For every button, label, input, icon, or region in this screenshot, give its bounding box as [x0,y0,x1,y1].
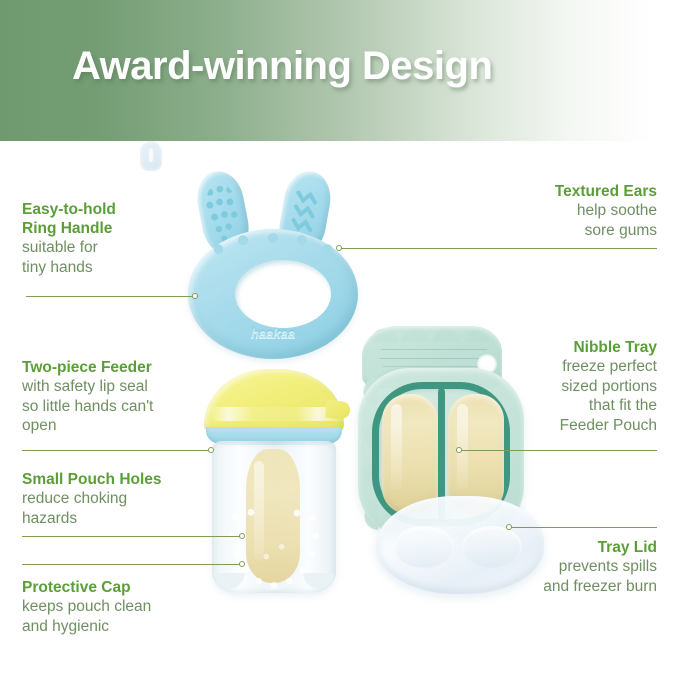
leader-line-safety-lip-seal [22,450,210,451]
callout-nibble-tray: Nibble Tray freeze perfect sized portion… [560,338,657,435]
callout-body-line: Feeder Pouch [560,416,657,436]
leader-endpoint-dot [456,447,462,453]
leader-endpoint-dot [239,533,245,539]
leader-line-tray-lid [510,527,657,528]
callout-small-pouch-holes: Small Pouch Holes reduce choking hazards [22,470,162,528]
callout-body-line: open [22,416,153,436]
tray-lid-dome [462,526,522,568]
callout-tray-lid: Tray Lid prevents spills and freezer bur… [543,538,657,596]
callout-body-line: with safety lip seal [22,377,153,397]
tray-lid-tab-slot [148,147,154,163]
header-banner: Award-winning Design [0,0,679,141]
callout-title: Small Pouch Holes [22,470,162,489]
callout-textured-ears: Textured Ears help soothe sore gums [555,182,657,240]
leader-endpoint-dot [506,524,512,530]
callout-body-line: tiny hands [22,258,116,278]
leader-line-nibble-tray [460,450,657,451]
callout-body-line: and freezer burn [543,577,657,597]
feeder-yellow-lid [204,369,344,435]
callout-ring-handle: Easy-to-hold Ring Handle suitable for ti… [22,200,116,277]
callout-body-line: sized portions [560,377,657,397]
callout-title: Easy-to-hold [22,200,116,219]
page-title: Award-winning Design [72,44,492,89]
tray-lid-dome [394,526,454,568]
callout-title: Textured Ears [555,182,657,201]
callout-body-line: and hygienic [22,617,151,637]
callout-body-line: suitable for [22,238,116,258]
callout-body-line: prevents spills [543,557,657,577]
callout-title-line2: Ring Handle [22,219,116,238]
callout-title: Two-piece Feeder [22,358,153,377]
tray-lid [376,496,544,594]
callout-body-line: help soothe [555,201,657,221]
callout-body-line: freeze perfect [560,357,657,377]
leader-endpoint-dot [192,293,198,299]
callout-body-line: that fit the [560,396,657,416]
callout-body-line: keeps pouch clean [22,597,151,617]
callout-protective-cap: Protective Cap keeps pouch clean and hyg… [22,578,151,636]
feeder-product [198,369,350,649]
leader-line-ring-handle [26,296,194,297]
leader-line-protective-cap [22,564,241,565]
callout-body-line: so little hands can't [22,397,153,417]
callout-title: Nibble Tray [560,338,657,357]
callout-body-line: hazards [22,509,162,529]
callout-body-line: reduce choking [22,489,162,509]
brand-logo-text: haakaa [226,326,320,341]
ring-handle-opening [235,260,331,328]
tray-cover-ridge-lines [380,344,488,370]
leader-endpoint-dot [208,447,214,453]
leader-line-textured-ear [340,248,657,249]
callout-title: Protective Cap [22,578,151,597]
pouch-holes [226,509,322,591]
leader-endpoint-dot [336,245,342,251]
callout-title: Tray Lid [543,538,657,557]
callout-body-line: sore gums [555,221,657,241]
cavity-highlight [391,404,402,490]
leader-endpoint-dot [239,561,245,567]
leader-line-pouch-holes [22,536,241,537]
callout-two-piece-feeder: Two-piece Feeder with safety lip seal so… [22,358,153,436]
ring-top-nub-bumps [208,233,338,259]
